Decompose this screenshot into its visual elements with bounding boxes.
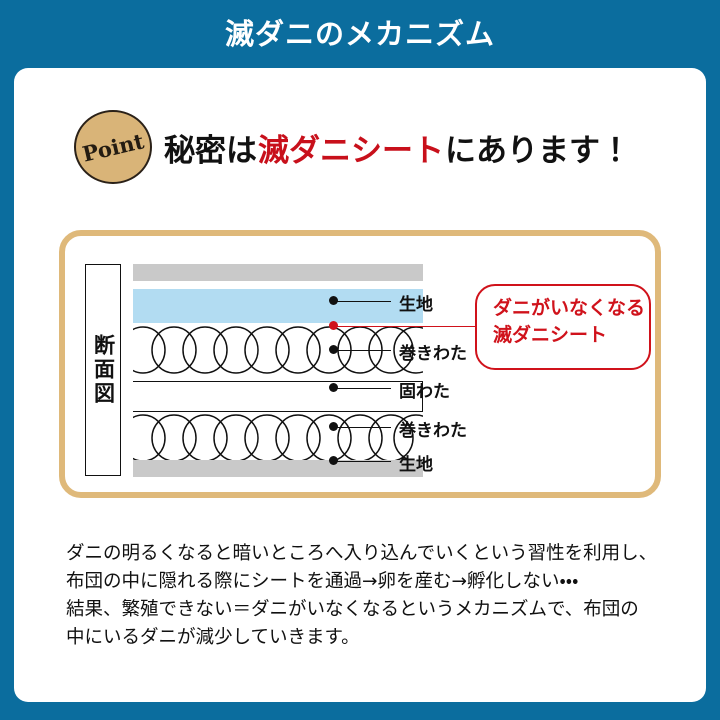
- layer-mite-sheet: [133, 289, 423, 323]
- body-copy-highlight: ダニが減少: [140, 624, 233, 652]
- body-copy-run: ダニの: [66, 543, 122, 564]
- body-copy-run: していきます。: [233, 627, 360, 648]
- point-badge: Point: [74, 110, 152, 184]
- body-copy-line: 布団の中に隠れる際にシートを通過→卵を産む→孵化しない・・・: [66, 568, 666, 596]
- layer-batting-bottom: [133, 414, 423, 462]
- point-headline-row: Point 秘密は滅ダニシートにあります！: [14, 104, 706, 190]
- leader-line-fabric-top: [337, 301, 391, 302]
- layer-label-batting-bottom: 巻きわた: [399, 416, 467, 441]
- body-copy-highlight: 繁殖できない＝ダニがいなくなる: [122, 596, 400, 624]
- mite-sheet-callout: ダニがいなくなる 滅ダニシート: [475, 284, 651, 370]
- cross-section-diagram: 断面図: [59, 230, 661, 498]
- page-title: 滅ダニのメカニズム: [0, 0, 720, 68]
- layer-stack: [133, 264, 423, 476]
- layer-label-batting-top: 巻きわた: [399, 339, 467, 364]
- layer-label-fabric-bottom: 生地: [399, 450, 433, 475]
- section-label-text: 断面図: [93, 334, 114, 406]
- leader-line-fabric-bottom: [337, 461, 391, 462]
- body-copy-run: 結果、: [66, 599, 122, 620]
- section-label-box: 断面図: [85, 264, 121, 476]
- layer-fabric-bottom: [133, 460, 423, 477]
- body-copy-highlight: 明るくなると暗いところへ入り込んでいく: [122, 540, 473, 568]
- layer-label-fabric-top: 生地: [399, 290, 433, 315]
- layer-label-firm-wata: 固わた: [399, 377, 450, 402]
- body-copy-run: 布団の中に隠れる際にシートを通過→卵を産む→孵化しない・・・: [66, 571, 578, 592]
- body-copy-line: 結果、繁殖できない＝ダニがいなくなるというメカニズムで、布団の: [66, 596, 666, 624]
- body-copy-line: 中にいるダニが減少していきます。: [66, 624, 666, 652]
- content-card: Point 秘密は滅ダニシートにあります！ 断面図: [14, 68, 706, 702]
- headline-prefix: 秘密は: [164, 125, 257, 170]
- headline-text: 秘密は滅ダニシートにあります！: [164, 112, 631, 182]
- leader-line-mite-sheet: [337, 326, 477, 327]
- leader-line-batting-bottom: [337, 427, 391, 428]
- headline-suffix: にあります！: [445, 125, 631, 170]
- body-copy: ダニの明るくなると暗いところへ入り込んでいくという習性を利用し、布団の中に隠れる…: [66, 540, 666, 652]
- callout-line-2: 滅ダニシート: [493, 322, 635, 349]
- leader-line-batting-top: [337, 350, 391, 351]
- point-badge-label: Point: [69, 105, 157, 190]
- layer-firm-wata: [133, 381, 423, 412]
- body-copy-run: という習性を利用し、: [472, 543, 657, 564]
- body-copy-run: というメカニズムで、布団の: [399, 599, 639, 620]
- callout-line-1: ダニがいなくなる: [493, 295, 635, 322]
- leader-line-firm-wata: [337, 388, 391, 389]
- body-copy-run: 中にいる: [66, 627, 140, 648]
- layer-fabric-top: [133, 264, 423, 281]
- body-copy-line: ダニの明るくなると暗いところへ入り込んでいくという習性を利用し、: [66, 540, 666, 568]
- headline-emphasis: 滅ダニシート: [257, 125, 445, 170]
